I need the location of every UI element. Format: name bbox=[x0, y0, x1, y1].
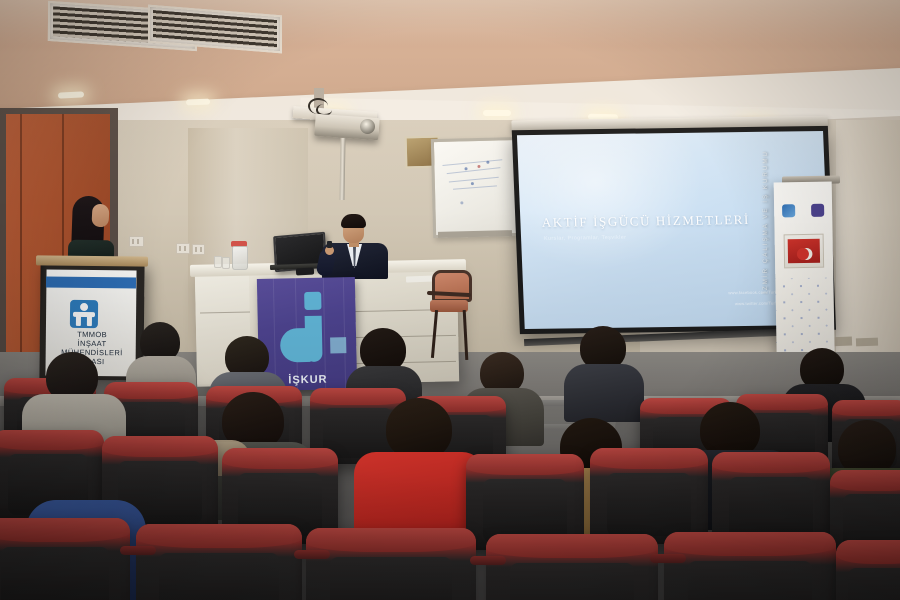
podium-top bbox=[36, 255, 148, 266]
banner-tag bbox=[330, 337, 346, 353]
stage-chair-back[interactable] bbox=[432, 270, 472, 302]
projector-vent bbox=[322, 120, 349, 134]
armrest bbox=[650, 554, 686, 563]
slide-subtitle: Kurslar, Programlar, Teşvikler bbox=[544, 235, 627, 242]
smartphone[interactable] bbox=[296, 268, 314, 276]
iskur-logo-curve bbox=[280, 328, 311, 363]
conference-room-photo: AKTİF İŞGÜCÜ HİZMETLERİ Kurslar, Program… bbox=[0, 0, 900, 600]
screen-edge-text: İZMİR ÇALIŞMA VE İŞ KURUMU bbox=[762, 150, 769, 294]
wall-switch-plate[interactable] bbox=[129, 236, 144, 247]
whiteboard bbox=[431, 137, 525, 238]
wall-switch-plate[interactable] bbox=[192, 244, 205, 255]
podium-accent-band bbox=[46, 277, 136, 289]
wall-switch-plate[interactable] bbox=[176, 243, 190, 254]
drinking-glass bbox=[214, 256, 222, 268]
iskur-logo-dot bbox=[304, 292, 321, 310]
ceiling-light bbox=[186, 99, 210, 106]
ceiling-light bbox=[483, 110, 511, 116]
drinking-glass bbox=[222, 257, 230, 269]
seat[interactable] bbox=[136, 524, 302, 600]
iskur-logo-icon bbox=[811, 203, 824, 216]
armrest bbox=[120, 546, 156, 555]
moderator-face bbox=[91, 204, 109, 228]
turkish-flag-emblem bbox=[784, 234, 825, 269]
seat[interactable] bbox=[0, 518, 130, 600]
seat[interactable] bbox=[486, 534, 658, 600]
armrest bbox=[294, 550, 330, 559]
seat[interactable] bbox=[836, 540, 900, 600]
csgb-logo-icon bbox=[782, 204, 795, 217]
screen-foot bbox=[856, 338, 878, 347]
armrest bbox=[470, 556, 506, 565]
presenter-remote[interactable] bbox=[327, 241, 332, 248]
tmmob-logo-icon bbox=[70, 300, 98, 328]
projector-glow bbox=[517, 131, 706, 271]
seat[interactable] bbox=[664, 532, 836, 600]
water-pitcher bbox=[232, 246, 248, 270]
speaker-hair bbox=[341, 214, 366, 228]
slide-title: AKTİF İŞGÜCÜ HİZMETLERİ bbox=[542, 211, 751, 230]
papers bbox=[406, 276, 434, 283]
rollup-logos bbox=[774, 188, 833, 233]
seat[interactable] bbox=[306, 528, 476, 600]
seat[interactable] bbox=[590, 448, 708, 544]
panel-seam bbox=[20, 114, 22, 360]
